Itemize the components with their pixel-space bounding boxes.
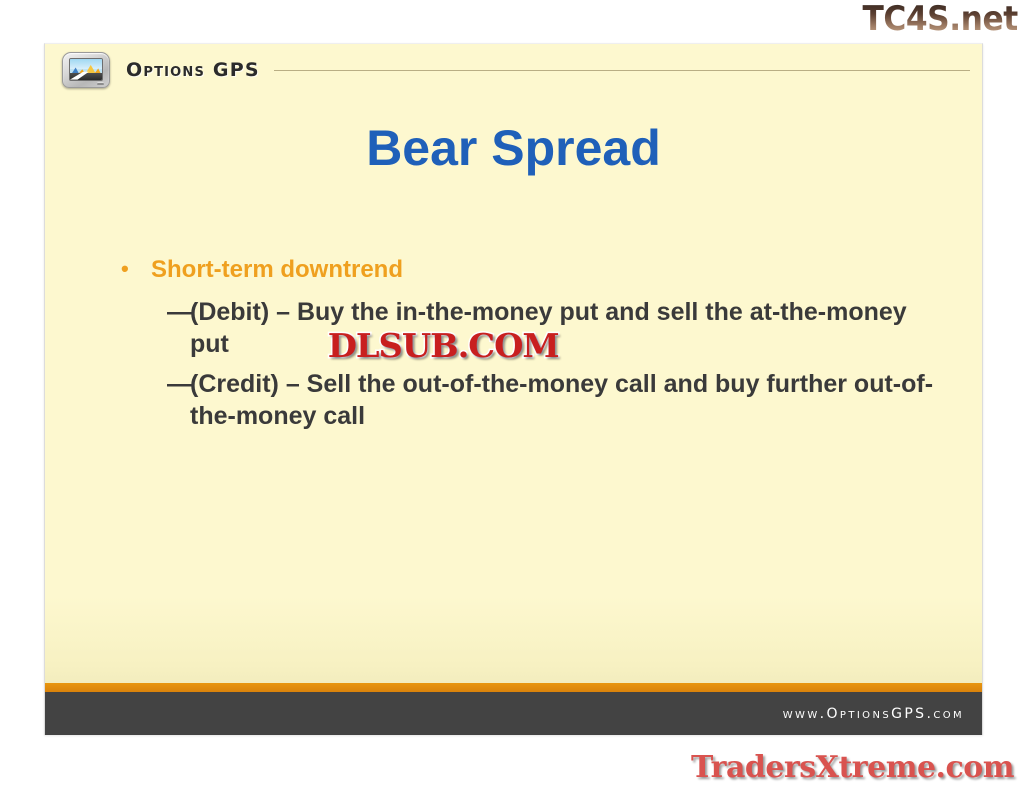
presentation-slide: Options GPS Bear Spread • Short-term dow… [44, 43, 983, 735]
footer-url-label: www.OptionsGPS.com [783, 706, 964, 722]
bullet-level1-text: Short-term downtrend [151, 256, 403, 284]
bullet-level2-debit-text: (Debit) – Buy the in-the-money put and s… [190, 296, 951, 360]
screenshot-page: TC4S.net [0, 0, 1024, 791]
em-dash-marker-icon: — [167, 296, 190, 328]
tc4s-watermark: TC4S.net [863, 2, 1018, 36]
bullet-level2-credit-text: (Credit) – Sell the out-of-the-money cal… [190, 368, 951, 432]
gps-device-icon [62, 52, 110, 88]
tradersxtreme-watermark: TradersXtreme.com [691, 750, 1014, 785]
accent-stripe [45, 683, 982, 692]
dlsub-watermark: DLSUB.COM [328, 326, 559, 365]
page-title: Bear Spread [45, 119, 982, 177]
gps-road-icon [70, 70, 102, 80]
bullet-dot-icon: • [121, 256, 151, 281]
slide-header: Options GPS [45, 44, 982, 96]
slide-footer: www.OptionsGPS.com [45, 692, 982, 735]
gps-screen [69, 58, 103, 81]
bullet-level2-debit: — (Debit) – Buy the in-the-money put and… [167, 296, 951, 360]
header-divider [274, 70, 970, 71]
bullet-level2-credit: — (Credit) – Sell the out-of-the-money c… [167, 368, 951, 432]
bullet-level1: • Short-term downtrend [121, 256, 951, 284]
em-dash-marker-icon: — [167, 368, 190, 400]
gps-button [97, 82, 104, 85]
brand-label: Options GPS [126, 59, 260, 81]
